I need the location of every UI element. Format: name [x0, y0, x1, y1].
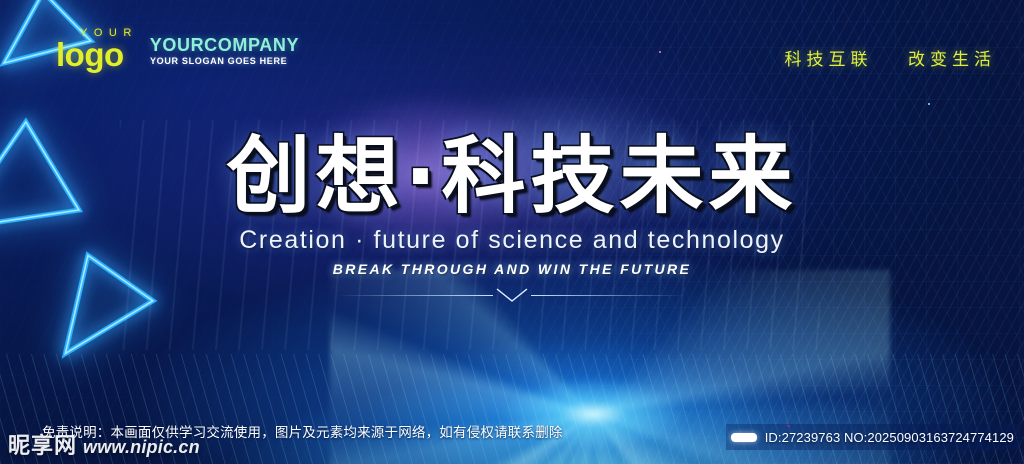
page-tagline: BREAK THROUGH AND WIN THE FUTURE: [0, 261, 1024, 277]
company-block: YOURCOMPANY YOUR SLOGAN GOES HERE: [150, 36, 299, 70]
id-badge: ID:27239763 NO:20250903163724774129: [731, 430, 1014, 445]
top-slogan-left: 科技互联: [785, 50, 873, 69]
company-slogan: YOUR SLOGAN GOES HERE: [150, 57, 292, 67]
top-slogan-right: 改变生活: [908, 50, 996, 69]
headline-block: 创想·科技未来 Creation · future of science and…: [0, 134, 1024, 277]
company-name: YOURCOMPANY: [150, 36, 299, 54]
watermark: 昵享网 www.nipic.cn: [8, 428, 200, 460]
badge-dash-icon: [731, 433, 757, 442]
chevron-down-icon: [495, 287, 529, 303]
watermark-url: www.nipic.cn: [83, 437, 200, 458]
divider-bar-right: [531, 295, 686, 296]
poster-canvas: YOUR logo YOURCOMPANY YOUR SLOGAN GOES H…: [0, 0, 1024, 464]
watermark-site-name: 昵享网: [8, 428, 77, 460]
divider-bar-left: [338, 295, 493, 296]
page-title: 创想·科技未来: [227, 134, 798, 218]
logo-lockup[interactable]: YOUR logo YOURCOMPANY YOUR SLOGAN GOES H…: [56, 28, 299, 70]
logo-mark[interactable]: YOUR logo: [56, 28, 138, 70]
accent-pixel: [928, 103, 930, 105]
page-subtitle: Creation · future of science and technol…: [0, 226, 1024, 255]
logo-main-word: logo: [56, 40, 138, 70]
accent-pixel: [659, 51, 661, 53]
top-right-slogan: 科技互联 改变生活: [785, 45, 996, 70]
divider: [0, 287, 1024, 303]
id-badge-text: ID:27239763 NO:20250903163724774129: [765, 430, 1014, 445]
